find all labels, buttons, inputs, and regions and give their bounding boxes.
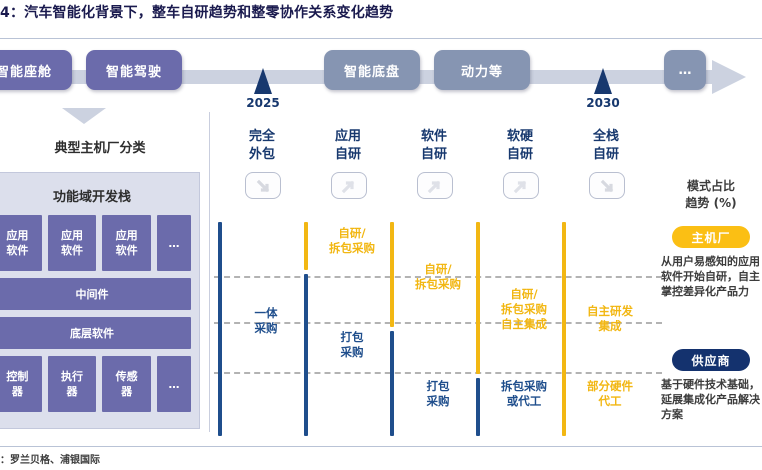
column-header-3: 软硬自研	[480, 128, 560, 164]
column-header-4: 全栈自研	[566, 128, 646, 164]
matrix-cell-label-8: 部分硬件代工	[564, 379, 656, 409]
column-header-0: 完全外包	[222, 128, 302, 164]
legend-body-supplier: 基于硬件技术基础，延展集成化产品解决方案	[661, 377, 761, 422]
maturity-matrix: 完全外包应用自研软件自研软硬自研全栈自研 一体采购自研/拆包采购打包采购自研/拆…	[0, 0, 762, 470]
matrix-cell-label-3: 自研/拆包采购	[392, 262, 484, 292]
matrix-cell-label-6: 拆包采购或代工	[478, 379, 570, 409]
column-header-2: 软件自研	[394, 128, 474, 164]
matrix-cell-label-5: 自研/拆包采购自主集成	[478, 287, 570, 332]
legend-pill-supplier: 供应商	[672, 349, 750, 371]
arrow-up-right-icon	[503, 172, 539, 199]
matrix-cell-label-4: 打包采购	[392, 379, 484, 409]
legend-body-oem: 从用户易感知的应用软件开始自研，自主掌控差异化产品力	[661, 254, 761, 299]
legend-title: 模式占比趋势 (%)	[660, 178, 762, 212]
footer-divider	[0, 446, 762, 447]
arrow-up-right-icon	[331, 172, 367, 199]
matrix-cell-label-0: 一体采购	[220, 306, 312, 336]
arrow-up-right-icon	[417, 172, 453, 199]
dashed-separator-2	[214, 372, 662, 374]
column-header-1: 应用自研	[308, 128, 388, 164]
source-note: ：罗兰贝格、浦银国际	[0, 451, 100, 466]
arrow-down-right-icon	[589, 172, 625, 199]
matrix-cell-label-2: 打包采购	[306, 330, 398, 360]
matrix-cell-label-7: 自主研发集成	[564, 304, 656, 334]
matrix-cell-label-1: 自研/拆包采购	[306, 226, 398, 256]
arrow-down-right-icon	[245, 172, 281, 199]
legend-pill-oem: 主机厂	[672, 226, 750, 248]
